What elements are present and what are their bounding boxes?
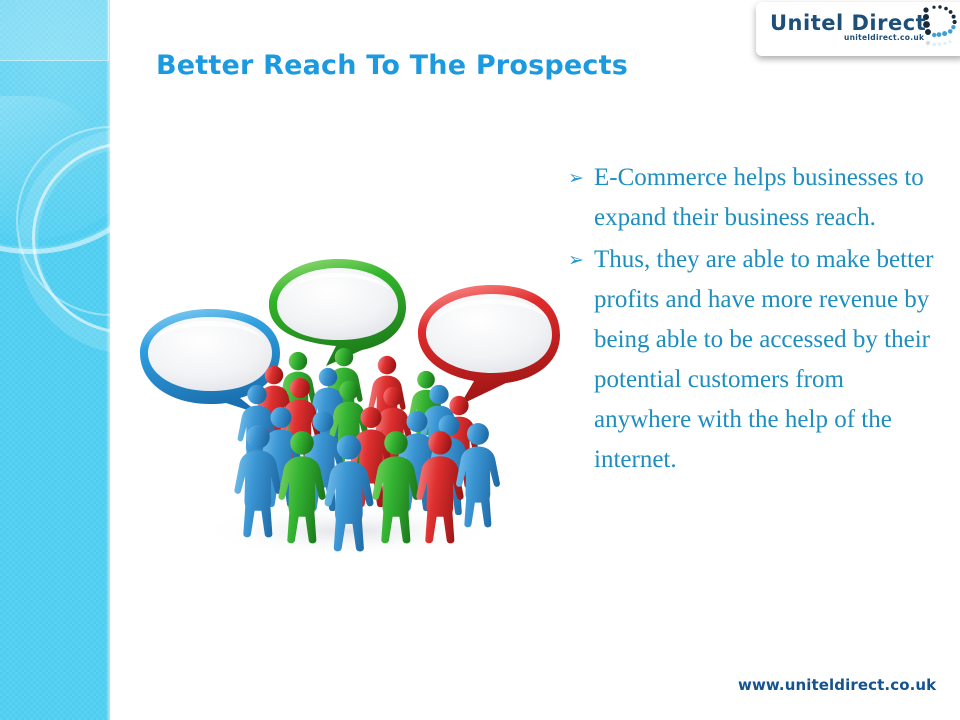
logo-panel[interactable]: Unitel Direct uniteldirect.co.uk — [756, 2, 960, 56]
logo-wordmark: Unitel Direct — [770, 11, 926, 35]
crowd-with-speech-bubbles-illustration — [130, 243, 560, 563]
page-title: Better Reach To The Prospects — [156, 50, 628, 81]
bullet-text: Thus, they are able to make better profi… — [594, 240, 942, 480]
footprint-dots-icon — [904, 4, 960, 52]
list-item: ➢ E-Commerce helps businesses to expand … — [568, 158, 942, 238]
body-content: ➢ E-Commerce helps businesses to expand … — [568, 158, 942, 482]
sidebar-edge-highlight — [106, 0, 110, 720]
speech-bubble-green — [269, 259, 406, 366]
decorative-sidebar — [0, 0, 110, 720]
bullet-text: E-Commerce helps businesses to expand th… — [594, 158, 942, 238]
list-item: ➢ Thus, they are able to make better pro… — [568, 240, 942, 480]
footer-website-url[interactable]: www.uniteldirect.co.uk — [738, 676, 936, 694]
slide-canvas: Better Reach To The Prospects Unitel Dir… — [0, 0, 960, 720]
arrow-bullet-icon: ➢ — [568, 240, 594, 280]
arrow-bullet-icon: ➢ — [568, 158, 594, 198]
